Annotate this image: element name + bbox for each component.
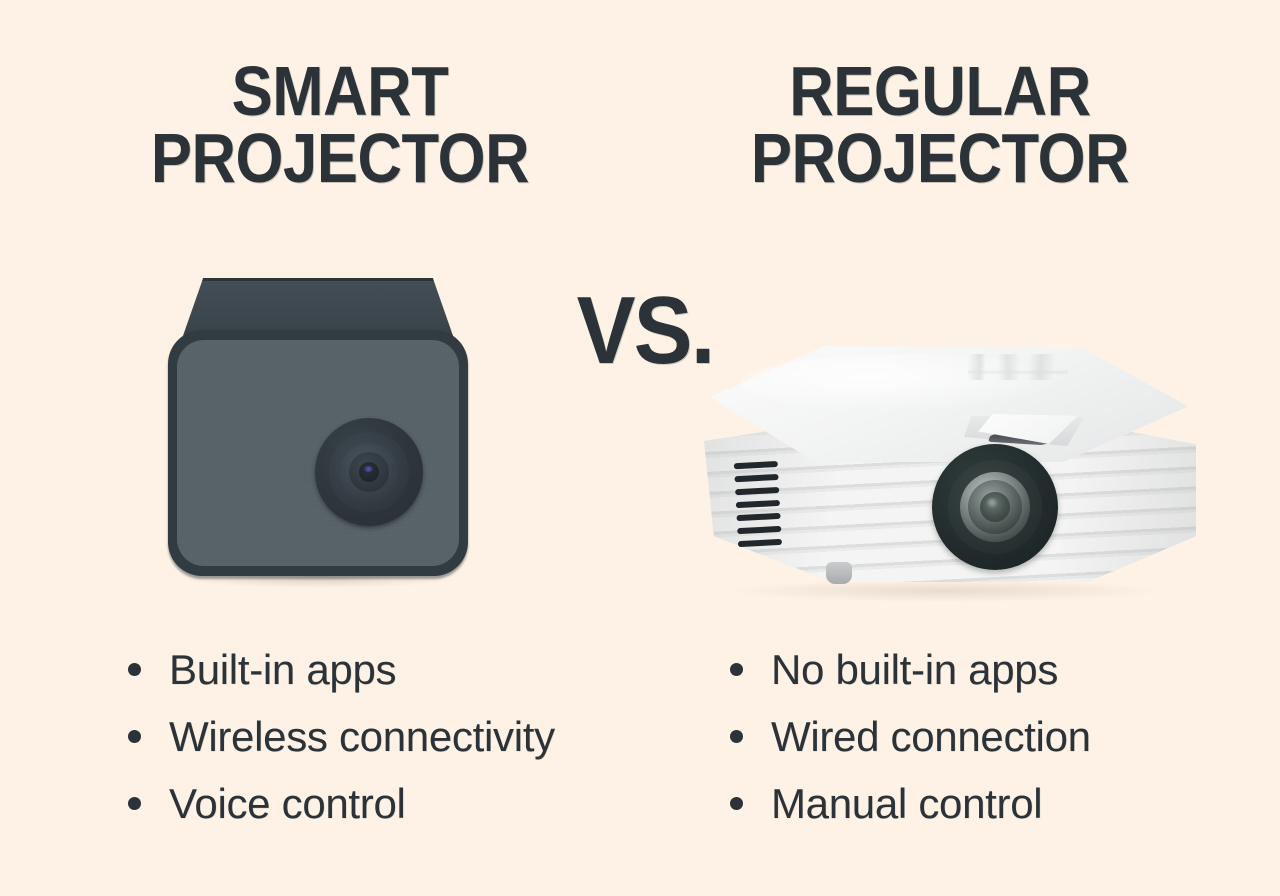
vent-slot (737, 526, 781, 534)
regular-projector-illustration (700, 340, 1200, 610)
regular-projector-foot (826, 562, 852, 584)
list-item: No built-in apps (730, 636, 1200, 703)
feature-label: Voice control (169, 780, 406, 828)
list-item: Built-in apps (128, 636, 648, 703)
smart-projector-illustration (168, 278, 468, 596)
list-item: Manual control (730, 770, 1200, 837)
regular-projector-lens (932, 444, 1058, 570)
infographic-canvas: SMART PROJECTOR REGULAR PROJECTOR VS. (0, 0, 1280, 896)
regular-projector-feature-list: No built-in apps Wired connection Manual… (730, 636, 1200, 837)
vent-slot (738, 539, 782, 547)
regular-projector-heading: REGULAR PROJECTOR (676, 58, 1204, 192)
feature-label: Wired connection (771, 713, 1091, 761)
bullet-dot-icon (128, 730, 141, 743)
regular-projector-shadow (730, 580, 1160, 602)
smart-projector-front-face (177, 340, 459, 566)
vent-slot (736, 513, 780, 521)
list-item: Voice control (128, 770, 648, 837)
smart-projector-lens-core (359, 462, 379, 482)
vent-slot (736, 500, 780, 508)
bullet-dot-icon (730, 797, 743, 810)
smart-projector-lens (315, 418, 423, 526)
smart-projector-body (168, 330, 468, 576)
list-item: Wired connection (730, 703, 1200, 770)
vent-slot (734, 474, 778, 482)
bullet-dot-icon (128, 663, 141, 676)
smart-projector-heading: SMART PROJECTOR (76, 58, 604, 192)
bullet-dot-icon (730, 663, 743, 676)
smart-projector-lens-glint (364, 466, 373, 472)
bullet-dot-icon (730, 730, 743, 743)
regular-projector-vent-grille (734, 461, 785, 551)
feature-label: No built-in apps (771, 646, 1058, 694)
vent-slot (735, 487, 779, 495)
bullet-dot-icon (128, 797, 141, 810)
smart-projector-feature-list: Built-in apps Wireless connectivity Voic… (128, 636, 648, 837)
regular-projector-lens-glint (986, 498, 998, 508)
regular-projector-logo-emboss (968, 354, 1068, 380)
feature-label: Wireless connectivity (169, 713, 555, 761)
feature-label: Manual control (771, 780, 1042, 828)
vent-slot (734, 461, 778, 469)
feature-label: Built-in apps (169, 646, 396, 694)
list-item: Wireless connectivity (128, 703, 648, 770)
